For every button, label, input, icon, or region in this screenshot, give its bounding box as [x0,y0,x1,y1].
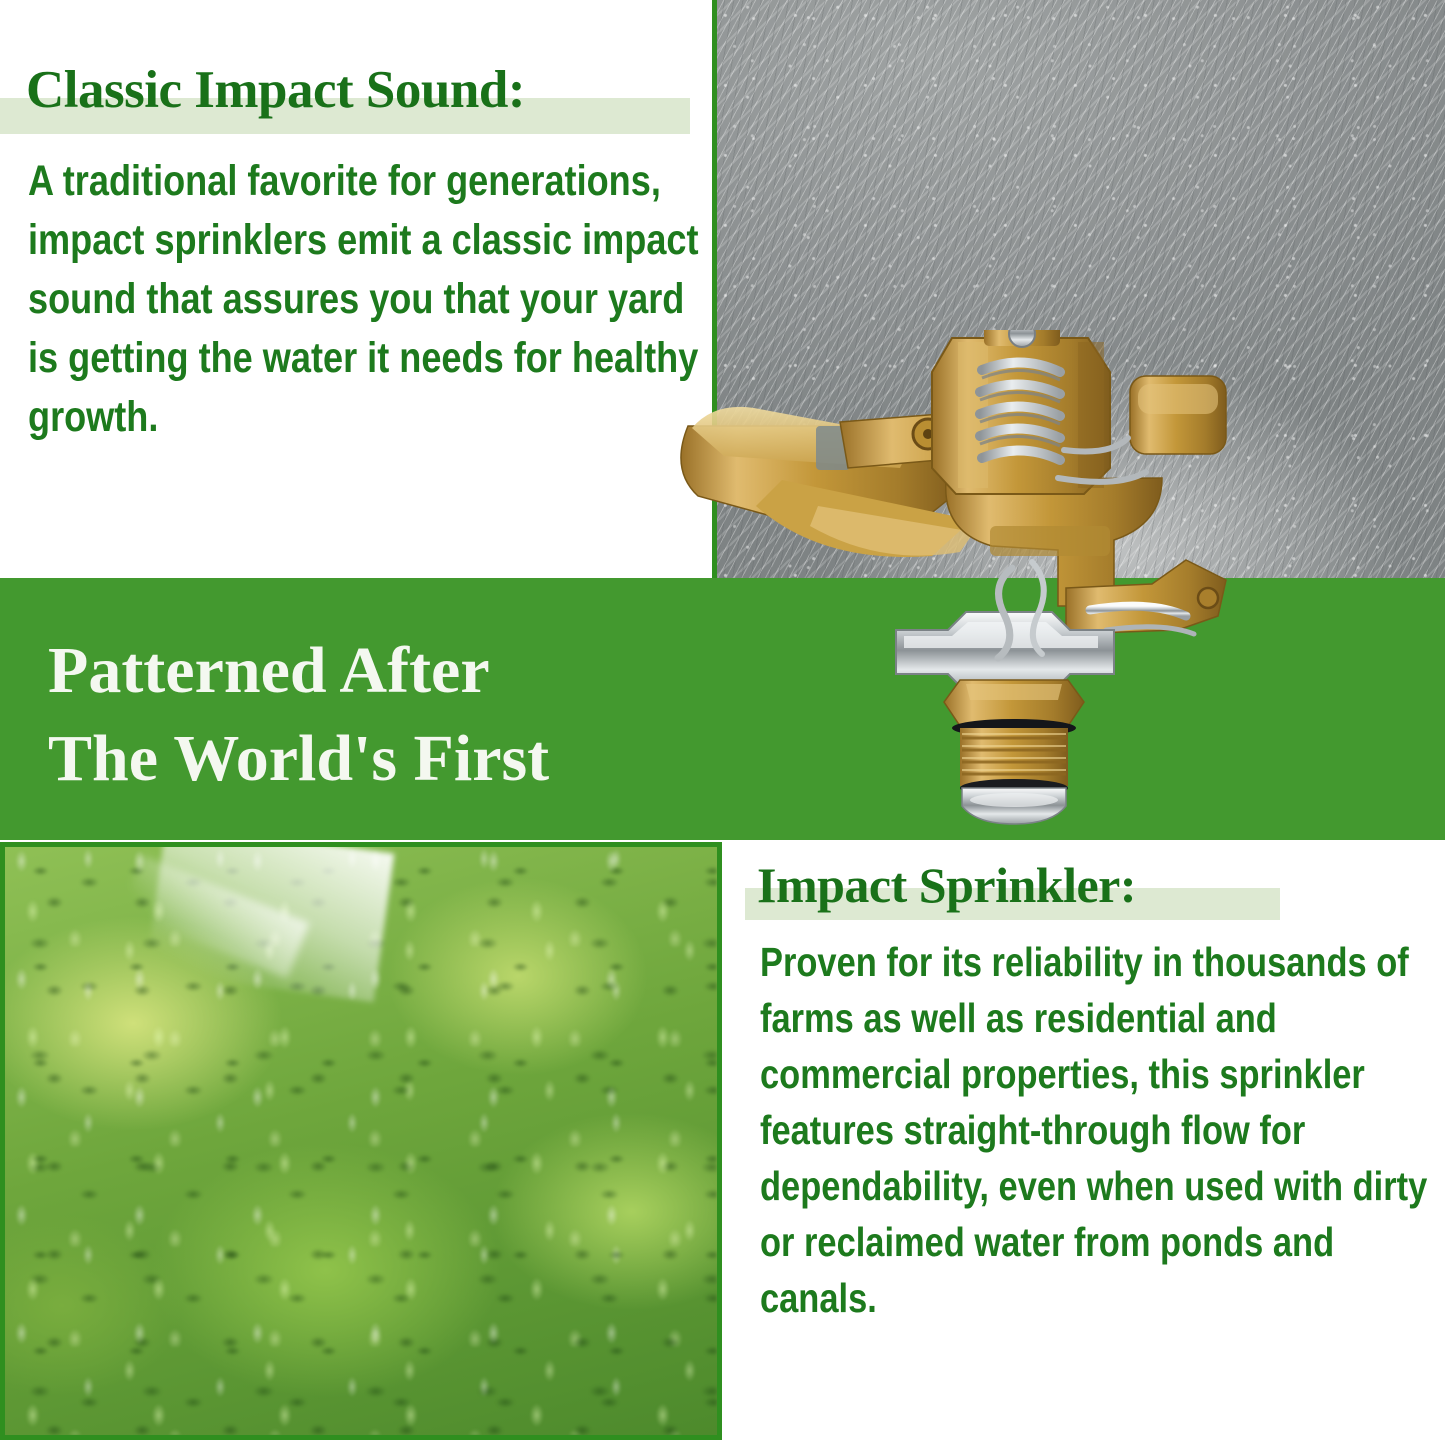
impact-sprinkler-title: Impact Sprinkler: [757,856,1136,914]
classic-sound-title: Classic Impact Sound: [26,60,525,120]
infographic-page: Patterned After The World's First [0,0,1445,1445]
brass-impact-sprinkler-render [660,330,1300,840]
classic-sound-body: A traditional favorite for generations, … [28,152,708,447]
banner-headline: Patterned After The World's First [48,627,549,803]
hedge-sprinkler-photo [0,842,722,1440]
impact-sprinkler-body: Proven for its reliability in thousands … [760,934,1445,1326]
